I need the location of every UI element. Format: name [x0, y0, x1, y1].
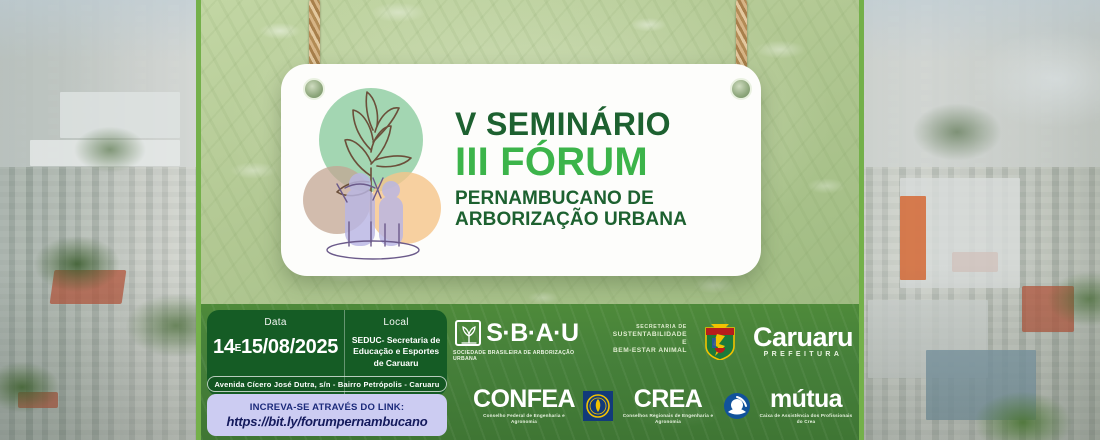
caruaru-logo: Caruaru PREFEITURA	[753, 322, 853, 358]
sponsor-logos-row-1: S·B·A·U SOCIEDADE BRASILEIRA DE ARBORIZA…	[453, 316, 853, 364]
caruaru-crest-icon	[703, 320, 737, 360]
date-label: Data	[213, 317, 338, 328]
grommet-left-icon	[303, 78, 325, 100]
caruaru-subtitle: PREFEITURA	[753, 351, 853, 358]
tree-and-people-illustration	[287, 72, 455, 268]
place-label: Local	[351, 317, 441, 328]
crea-subtitle: Conselhos Regionais de Engenharia e Agro…	[621, 413, 715, 425]
sbau-logo: S·B·A·U SOCIEDADE BRASILEIRA DE ARBORIZA…	[453, 319, 581, 362]
event-poster: V SEMINÁRIO III FÓRUM PERNAMBUCANO DE AR…	[196, 0, 864, 440]
caruaru-wordmark: Caruaru	[753, 322, 853, 353]
headline-line-3: PERNAMBUCANO DE	[455, 188, 745, 209]
mutua-subtitle: Caixa de Assistência dos Profissionais d…	[759, 413, 853, 425]
mutua-wordmark: mútua	[770, 387, 842, 412]
headline-line-4: ARBORIZAÇÃO URBANA	[455, 209, 745, 230]
confea-subtitle: Conselho Federal de Engenharia e Agronom…	[473, 413, 575, 425]
crea-logo: CREA Conselhos Regionais de Engenharia e…	[621, 387, 715, 425]
registration-link-title: INCREVA-SE ATRAVÉS DO LINK:	[250, 402, 404, 413]
address-pill: Avenida Cícero José Dutra, s/n - Bairro …	[207, 376, 447, 392]
poster-headline: V SEMINÁRIO III FÓRUM PERNAMBUCANO DE AR…	[455, 109, 761, 230]
place-value: SEDUC- Secretaria de Educação e Esportes…	[351, 335, 441, 369]
sbau-wordmark: S·B·A·U	[486, 319, 578, 348]
secretaria-line-2: SUSTENTABILIDADE E	[613, 331, 687, 347]
registration-link-url[interactable]: https://bit.ly/forumpernambucano	[227, 414, 428, 429]
date-day1: 14	[213, 336, 235, 358]
date-rest: 15/08/2025	[241, 336, 338, 358]
secretaria-line-3: BEM-ESTAR ANIMAL	[613, 347, 687, 355]
hanging-sign-card: V SEMINÁRIO III FÓRUM PERNAMBUCANO DE AR…	[281, 64, 761, 276]
sponsor-logos-row-2: CONFEA Conselho Federal de Engenharia e …	[473, 380, 853, 432]
crea-wordmark: CREA	[634, 387, 702, 412]
registration-link-band[interactable]: INCREVA-SE ATRAVÉS DO LINK: https://bit.…	[207, 394, 447, 436]
sbau-tree-mark-icon	[455, 320, 481, 346]
headline-line-2: III FÓRUM	[455, 143, 745, 182]
confea-logo: CONFEA Conselho Federal de Engenharia e …	[473, 387, 575, 425]
mutua-mark-icon	[723, 392, 751, 420]
secretaria-logo: SECRETARIA DE SUSTENTABILIDADE E BEM-EST…	[613, 324, 687, 355]
mutua-logo: mútua Caixa de Assistência dos Profissio…	[759, 387, 853, 425]
date-value: 14E15/08/2025	[213, 336, 338, 359]
confea-wordmark: CONFEA	[473, 387, 575, 412]
sbau-subtitle: SOCIEDADE BRASILEIRA DE ARBORIZAÇÃO URBA…	[453, 350, 581, 362]
grommet-right-icon	[730, 78, 752, 100]
headline-line-1: V SEMINÁRIO	[455, 109, 745, 140]
poster-screenshot: V SEMINÁRIO III FÓRUM PERNAMBUCANO DE AR…	[0, 0, 1100, 440]
confea-seal-icon	[583, 391, 613, 421]
